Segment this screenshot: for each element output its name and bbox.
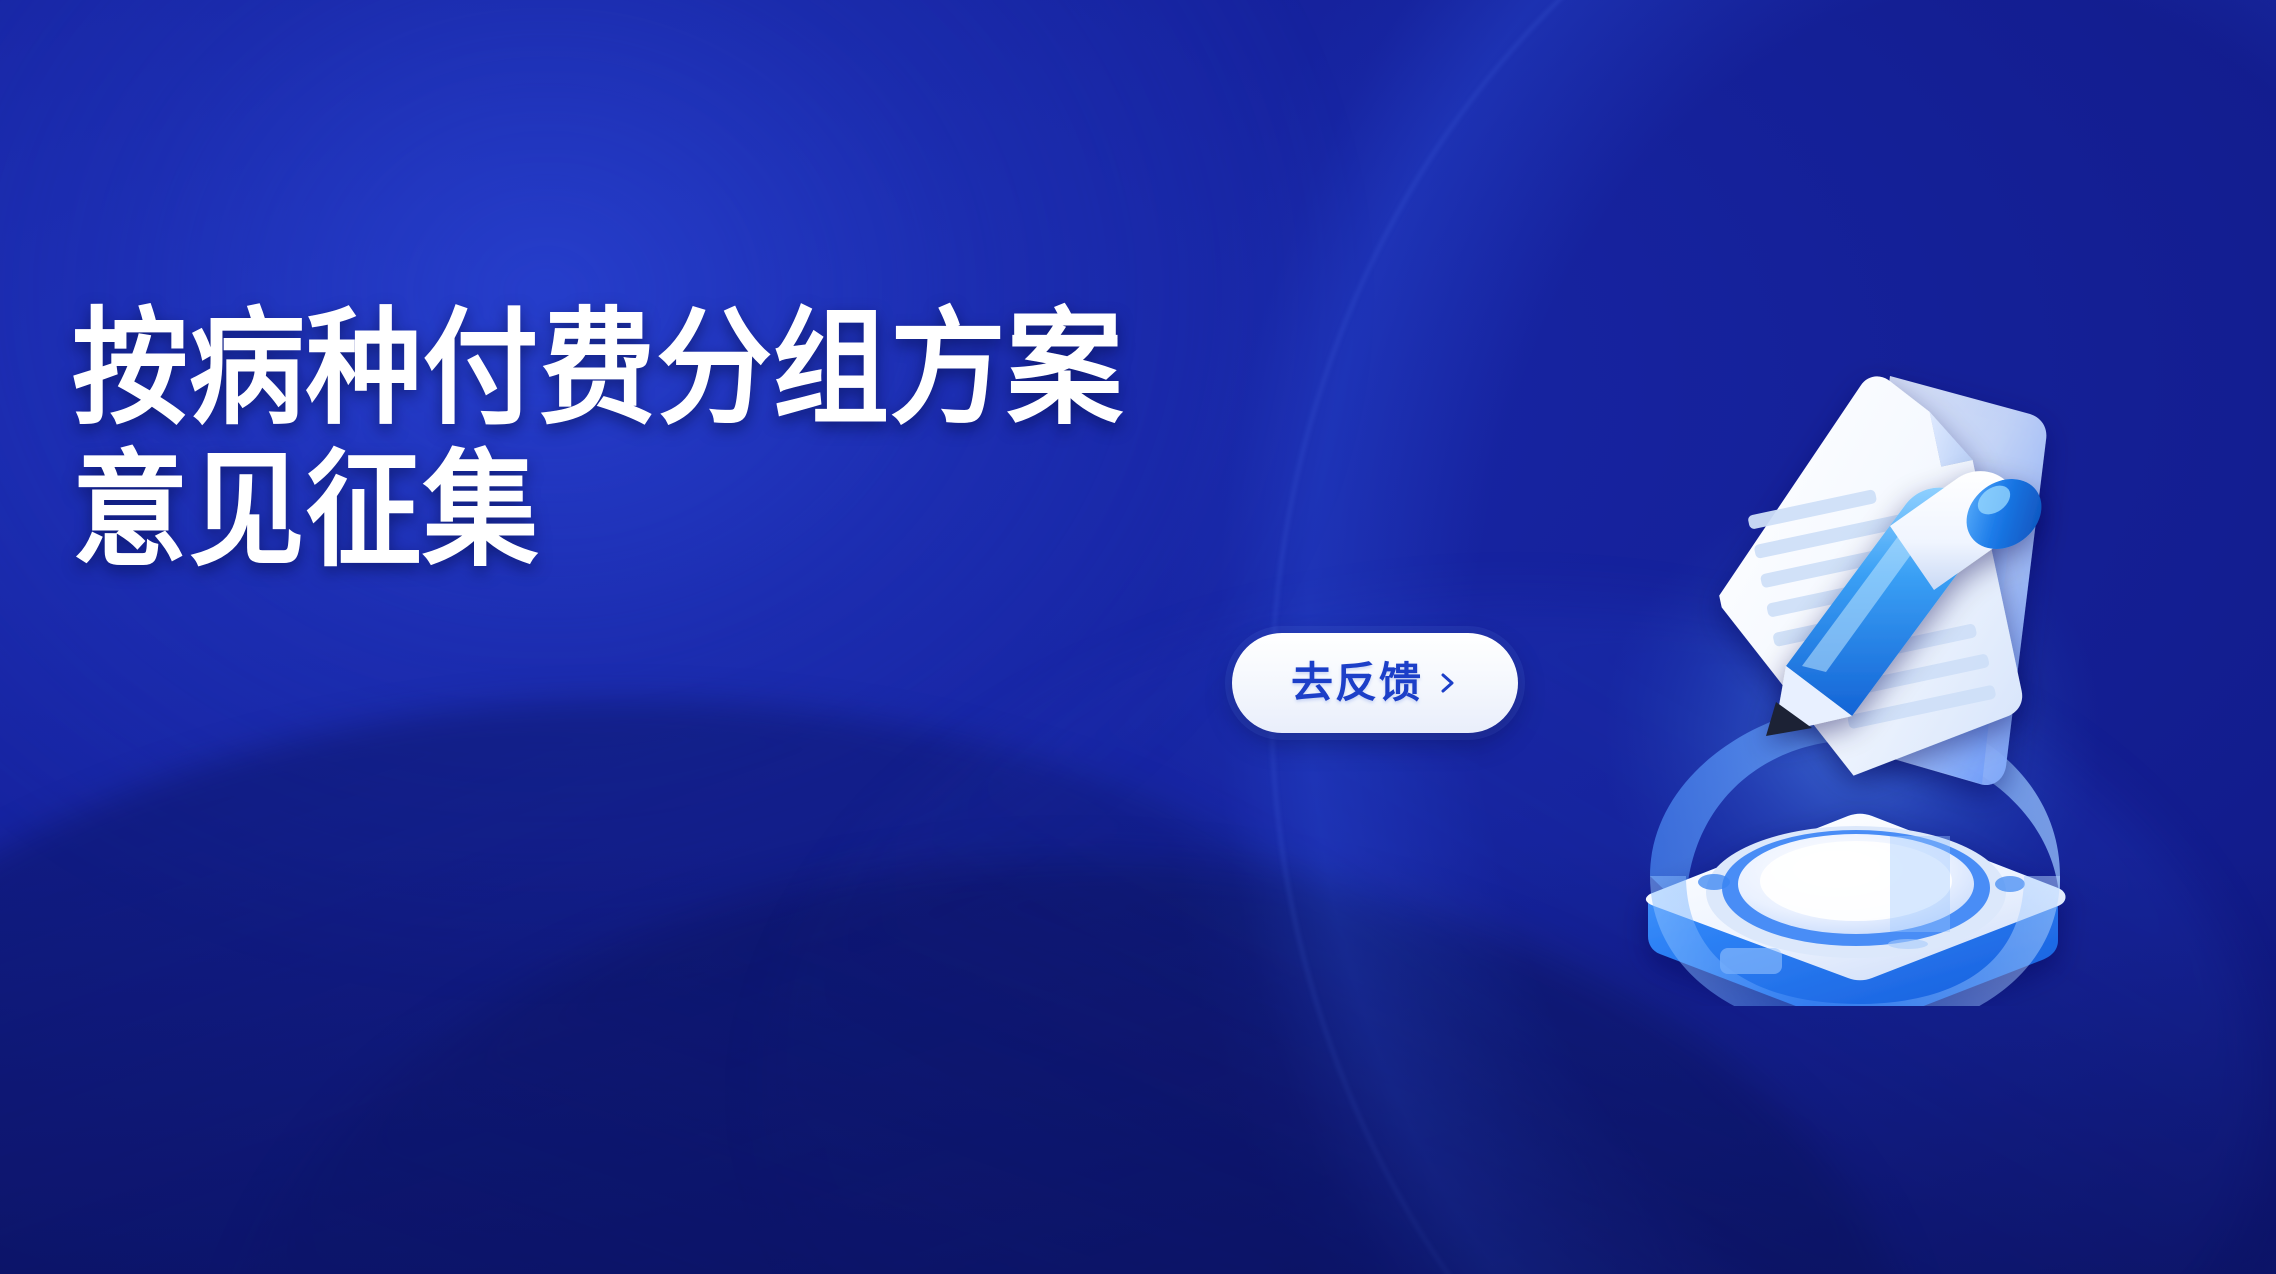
orbit-ribbon-end-tab xyxy=(1890,836,1950,932)
page-title-line-1: 按病种付费分组方案 xyxy=(72,298,1124,440)
feedback-banner: 按病种付费分组方案 意见征集 去反馈 xyxy=(0,0,2276,1274)
document-pencil-3d-illustration xyxy=(1590,336,2110,1006)
page-title-line-2: 意见征集 xyxy=(72,440,1124,582)
page-title: 按病种付费分组方案 意见征集 xyxy=(72,298,1215,582)
chevron-right-icon xyxy=(1435,671,1459,695)
go-to-feedback-button[interactable]: 去反馈 xyxy=(1232,633,1518,733)
go-to-feedback-label: 去反馈 xyxy=(1291,662,1423,704)
